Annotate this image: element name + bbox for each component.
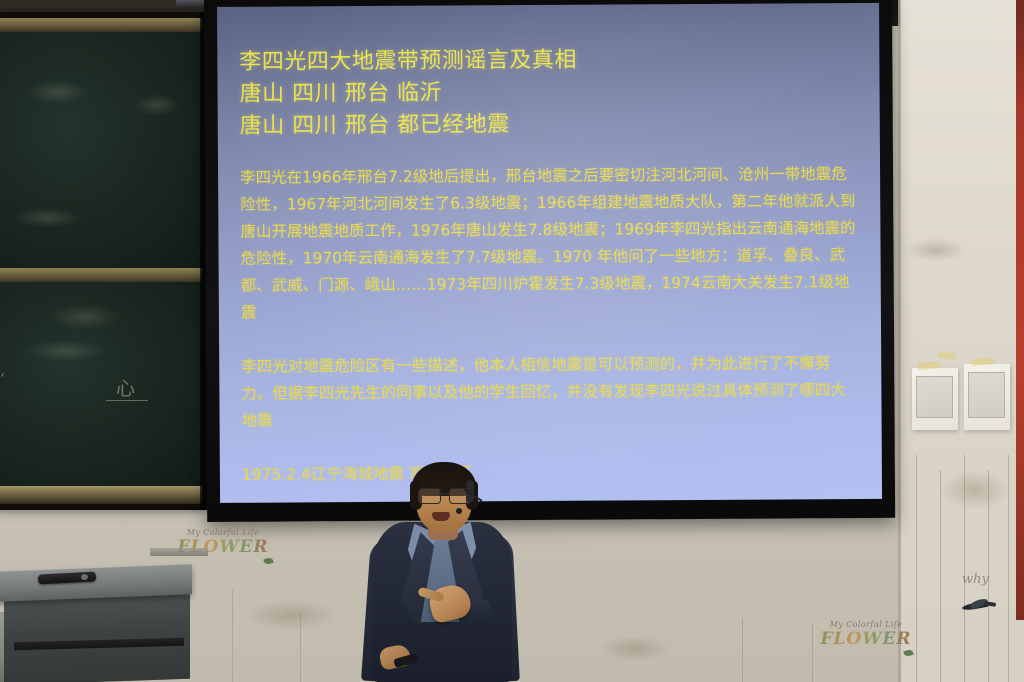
chalk-stroke: ʻ <box>0 370 5 388</box>
wall-shelf-bracket <box>150 548 208 556</box>
microphone-tip <box>456 508 462 514</box>
slide-title-line-2: 唐山 四川 邢台 临沂 <box>239 75 857 111</box>
eyeglasses-icon <box>418 488 470 502</box>
sticker-top-text: My Colorful Life <box>812 620 920 629</box>
blackboard-rail-bottom <box>0 486 202 504</box>
sticker-top-text: My Colorful Life <box>168 528 278 537</box>
wall-scribble: why <box>962 572 989 587</box>
blackboard-surface-upper <box>0 32 202 268</box>
podium-body <box>4 591 190 682</box>
presenter-eyebrow-left <box>420 484 438 487</box>
slide-title-line-1: 李四光四大地震带预测谣言及真相 <box>239 43 857 79</box>
sticker-main-text: FLOWER <box>812 629 920 649</box>
slide-paragraph-2: 李四光对地震危险区有一些描述，他本人相信地震是可以预测的，并为此进行了不懈努力。… <box>241 350 859 435</box>
chalk-stroke <box>106 400 148 401</box>
blackboard: 心 ʻ <box>0 12 208 510</box>
slide-paragraph-1: 李四光在1966年邢台7.2级地后提出，邢台地震之后要密切注河北河间、沧州一带地… <box>240 161 859 327</box>
blackboard-surface-lower: 心 ʻ <box>0 282 202 486</box>
taped-paper-note <box>912 368 958 430</box>
wall-scuff <box>600 636 670 662</box>
red-wall-edge-trim <box>1016 0 1024 620</box>
wall-panel-line <box>232 590 233 682</box>
presenter <box>366 460 516 682</box>
wall-panel-line <box>742 618 743 682</box>
presenter-mouth <box>432 512 450 521</box>
chalk-character: 心 <box>116 374 135 401</box>
blackboard-rail-top <box>0 18 202 32</box>
wall-sticker-flower-right: My Colorful Life FLOWER <box>812 620 920 649</box>
blackboard-rail-middle <box>0 268 202 282</box>
bird-wall-decal <box>962 600 996 612</box>
slide-body: 李四光在1966年邢台7.2级地后提出，邢台地震之后要密切注河北河间、沧州一带地… <box>240 161 860 435</box>
wall-scuff <box>246 600 336 630</box>
slide-title-line-3: 唐山 四川 邢台 都已经地震 <box>240 107 858 143</box>
slide-footer-line: 1975.2.4辽宁海城地震 准确预报 <box>242 458 860 489</box>
presentation-slide: 李四光四大地震带预测谣言及真相 唐山 四川 邢台 临沂 唐山 四川 邢台 都已经… <box>217 3 882 503</box>
lecture-room-photo: why 心 ʻ 李四光四大地震带预测谣言及真相 唐山 四川 邢台 临沂 唐山 四… <box>0 0 1024 682</box>
taped-paper-note <box>964 364 1010 430</box>
projection-screen: 李四光四大地震带预测谣言及真相 唐山 四川 邢台 临沂 唐山 四川 邢台 都已经… <box>204 0 895 522</box>
wall-corner-seam <box>898 0 901 682</box>
